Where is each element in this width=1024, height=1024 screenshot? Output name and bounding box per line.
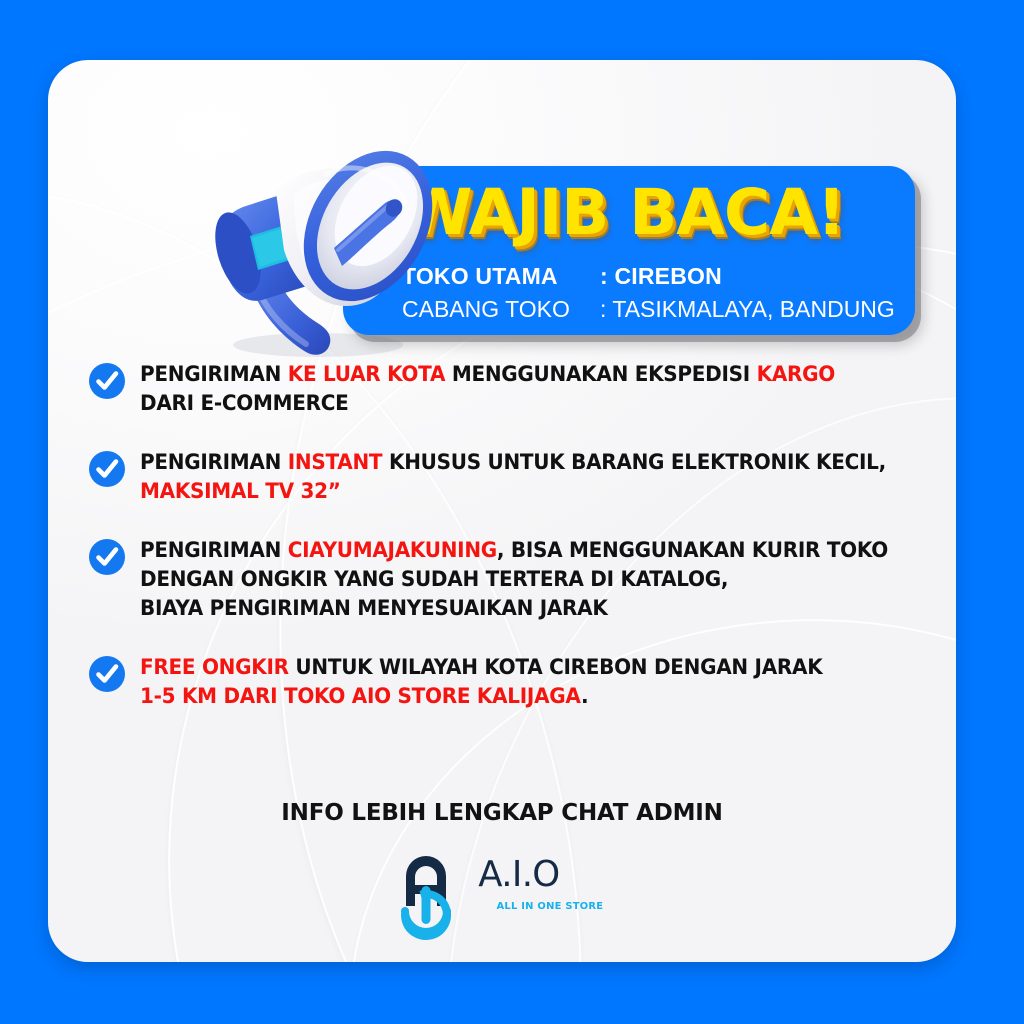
list-item-line: DENGAN ONGKIR YANG SUDAH TERTERA DI KATA… [140,565,929,594]
plain-text: KHUSUS UNTUK BARANG ELEKTRONIK KECIL, [382,450,886,475]
list-item-text: PENGIRIMAN CIAYUMAJAKUNING, BISA MENGGUN… [140,536,929,623]
plain-text: PENGIRIMAN [140,450,288,475]
svg-text:ALL IN ONE STORE: ALL IN ONE STORE [496,901,603,912]
highlighted-text: KARGO [757,362,835,387]
aio-logo: A.I.O ALL IN ONE STORE [48,850,956,942]
store-main-value: : CIREBON [600,260,722,293]
aio-wordmark: A.I.O ALL IN ONE STORE [478,856,610,913]
highlighted-text: 1-5 KM DARI TOKO AIO STORE KALIJAGA [140,684,581,709]
page-title: WAJIB BACA! [403,176,845,249]
svg-text:A.I.O: A.I.O [478,856,559,895]
list-item-text: PENGIRIMAN INSTANT KHUSUS UNTUK BARANG E… [140,448,929,506]
list-item-text: FREE ONGKIR UNTUK WILAYAH KOTA CIREBON D… [140,653,929,711]
list-item-line: BIAYA PENGIRIMAN MENYESUAIKAN JARAK [140,594,929,623]
plain-text: UNTUK WILAYAH KOTA CIREBON DENGAN JARAK [289,655,823,680]
check-circle-icon [88,655,126,693]
list-item: PENGIRIMAN CIAYUMAJAKUNING, BISA MENGGUN… [88,536,956,623]
plain-text: PENGIRIMAN [140,538,288,563]
list-item-line: MAKSIMAL TV 32” [140,477,929,506]
aio-power-a-icon [394,850,468,942]
check-circle-icon [88,450,126,488]
plain-text: . [581,684,588,709]
plain-text: MENGGUNAKAN EKSPEDISI [445,362,756,387]
store-info-table: TOKO UTAMA : CIREBON CABANG TOKO : TASIK… [402,260,895,326]
list-item-line: PENGIRIMAN INSTANT KHUSUS UNTUK BARANG E… [140,448,929,477]
notice-list: PENGIRIMAN KE LUAR KOTA MENGGUNAKAN EKSP… [88,360,956,741]
list-item-line: FREE ONGKIR UNTUK WILAYAH KOTA CIREBON D… [140,653,929,682]
highlighted-text: MAKSIMAL TV 32” [140,479,341,504]
list-item: PENGIRIMAN INSTANT KHUSUS UNTUK BARANG E… [88,448,956,506]
highlighted-text: INSTANT [288,450,383,475]
store-branch-value: : TASIKMALAYA, BANDUNG [600,293,895,326]
store-row-main: TOKO UTAMA : CIREBON [402,260,895,293]
plain-text: , BISA MENGGUNAKAN KURIR TOKO [497,538,888,563]
list-item-line: 1-5 KM DARI TOKO AIO STORE KALIJAGA. [140,682,929,711]
poster-card: WAJIB BACA! TOKO UTAMA : CIREBON CABANG … [48,60,956,962]
footer-cta-text: INFO LEBIH LENGKAP CHAT ADMIN [48,800,956,826]
list-item: FREE ONGKIR UNTUK WILAYAH KOTA CIREBON D… [88,653,956,711]
megaphone-icon [198,130,448,370]
highlighted-text: FREE ONGKIR [140,655,289,680]
plain-text: BIAYA PENGIRIMAN MENYESUAIKAN JARAK [140,596,608,621]
list-item-line: DARI E-COMMERCE [140,389,929,418]
check-circle-icon [88,538,126,576]
highlighted-text: CIAYUMAJAKUNING [288,538,497,563]
list-item-line: PENGIRIMAN CIAYUMAJAKUNING, BISA MENGGUN… [140,536,929,565]
check-circle-icon [88,362,126,400]
store-row-branch: CABANG TOKO : TASIKMALAYA, BANDUNG [402,293,895,326]
plain-text: DENGAN ONGKIR YANG SUDAH TERTERA DI KATA… [140,567,728,592]
plain-text: DARI E-COMMERCE [140,391,349,416]
